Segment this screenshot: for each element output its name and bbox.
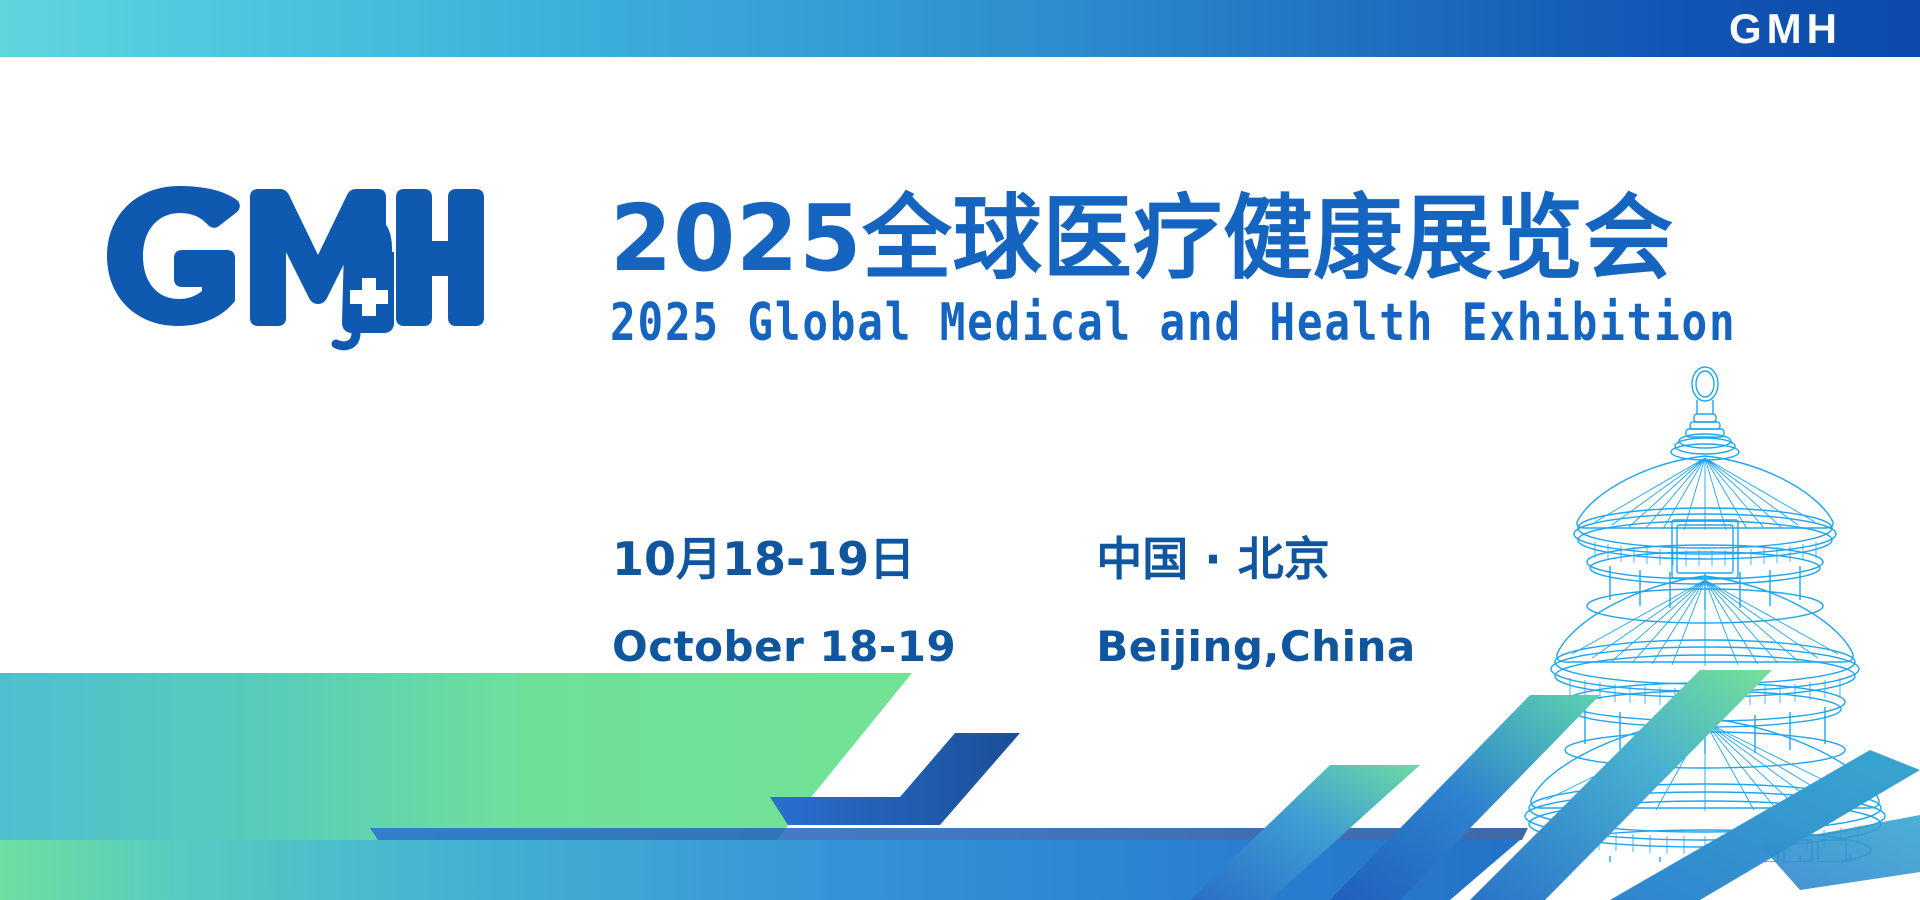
bottom-decoration (0, 640, 1920, 900)
title-english: 2025 Global Medical and Health Exhibitio… (610, 294, 1619, 354)
event-location-chinese: 中国 · 北京 (1096, 536, 1415, 582)
top-bar: GMH (0, 0, 1920, 57)
event-date-column: 10月18-19日 October 18-19 (612, 536, 956, 668)
event-date-chinese: 10月18-19日 (612, 536, 956, 582)
title-block: 2025全球医疗健康展览会 2025 Global Medical and He… (610, 190, 1840, 353)
event-location-english: Beijing,China (1096, 626, 1415, 668)
event-date-english: October 18-19 (612, 626, 956, 668)
top-bar-brand-text: GMH (1729, 8, 1842, 50)
event-location-column: 中国 · 北京 Beijing,China (1096, 536, 1415, 668)
gmh-logo (104, 186, 484, 351)
temple-of-heaven-illustration (1500, 362, 1910, 862)
event-info: 10月18-19日 October 18-19 中国 · 北京 Beijing,… (612, 536, 1416, 668)
title-chinese: 2025全球医疗健康展览会 (610, 190, 1803, 288)
event-banner: GMH (0, 0, 1920, 900)
